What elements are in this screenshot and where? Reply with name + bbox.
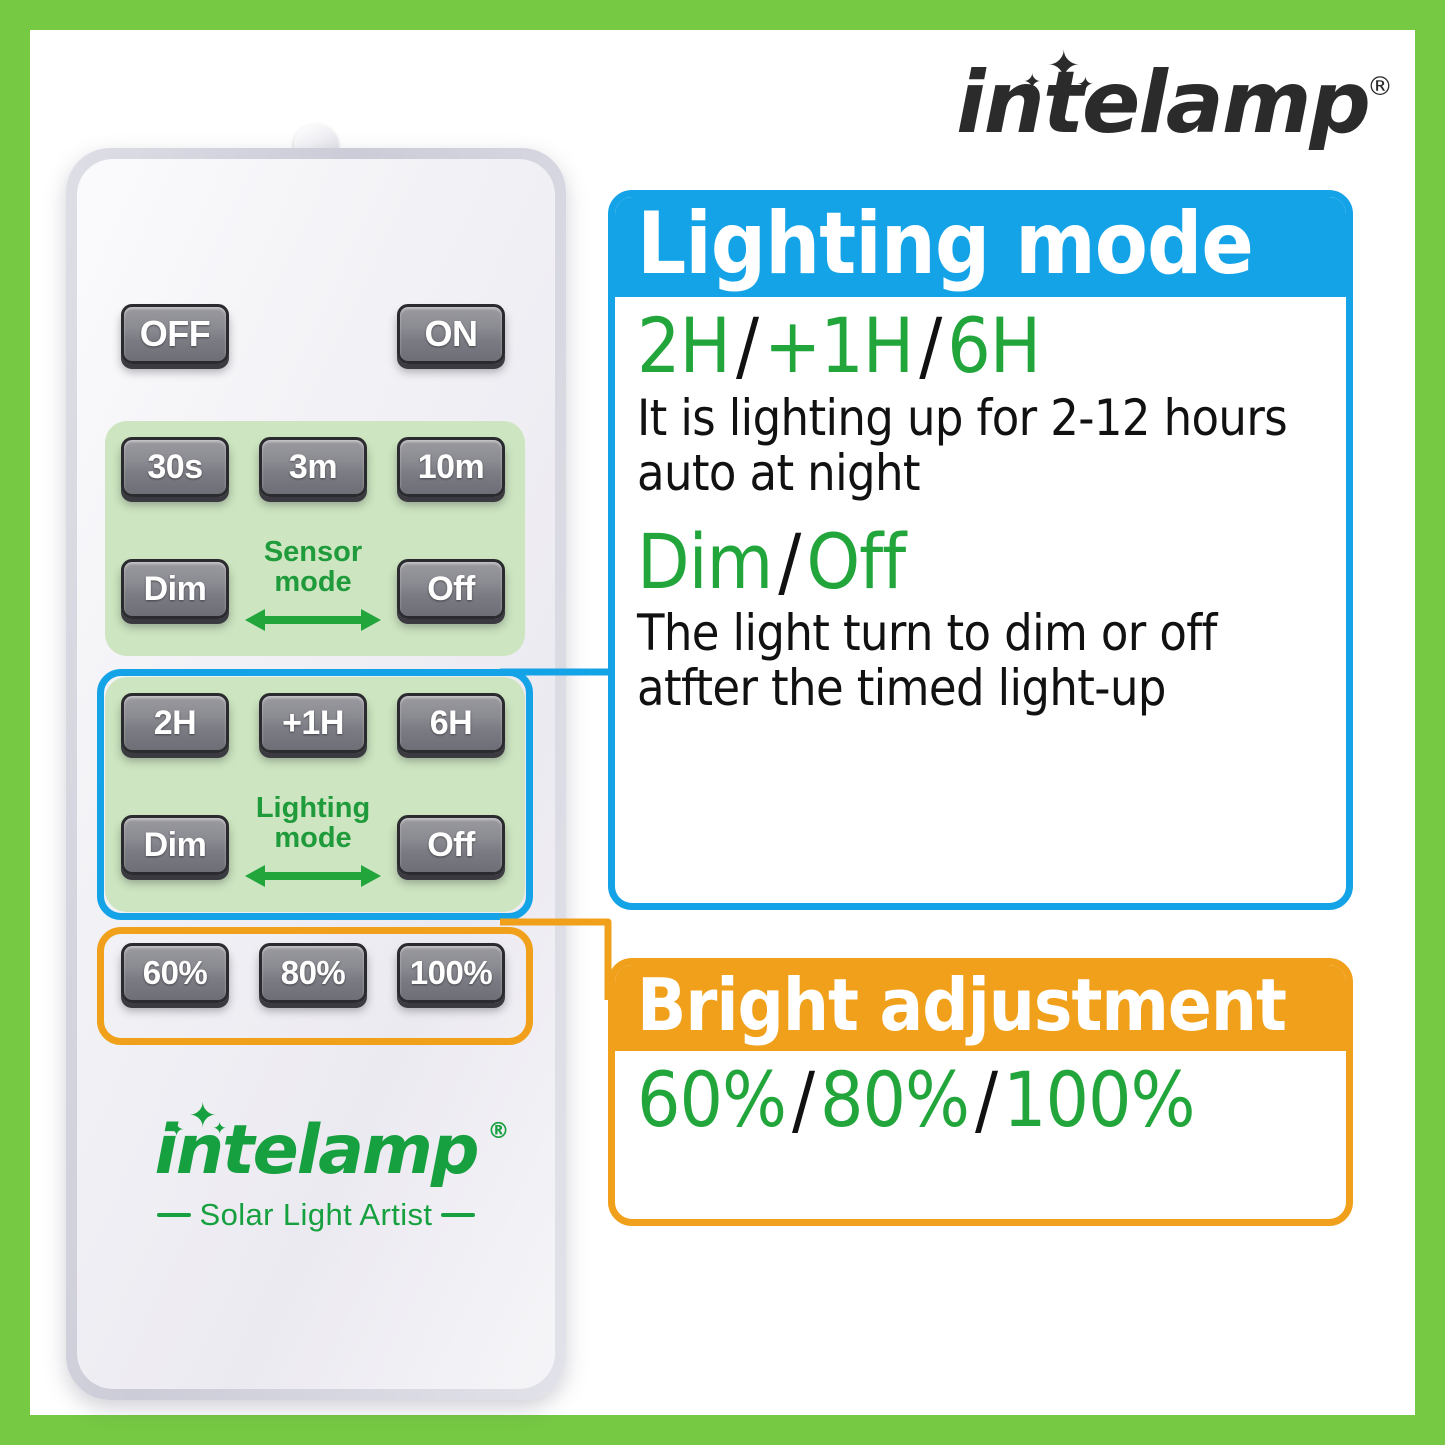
key-sensor-30s[interactable]: 30s	[121, 437, 229, 497]
tagline-rule-right	[441, 1213, 475, 1217]
remote-control: OFF ON 30s 3m 10m	[66, 90, 586, 1410]
key-label: Off	[427, 826, 475, 865]
key-sensor-10m[interactable]: 10m	[397, 437, 505, 497]
card-body-lighting-mode: 2H/+1H/6H It is lighting up for 2-12 hou…	[615, 297, 1346, 728]
sparkle-icon: ✦	[188, 1099, 215, 1133]
key-off-power[interactable]: OFF	[121, 304, 229, 364]
key-label: 30s	[147, 448, 202, 487]
key-sensor-dim[interactable]: Dim	[121, 559, 229, 619]
key-bright-100[interactable]: 100%	[397, 943, 505, 1003]
lighting-mode-options: 2H/+1H/6H	[637, 307, 1326, 385]
sensor-mode-range-arrow-icon	[243, 605, 383, 635]
key-label: +1H	[282, 704, 344, 743]
card-title-lighting-mode: Lighting mode	[615, 197, 1346, 297]
key-label: 2H	[154, 704, 196, 743]
card-bright-adjustment: Bright adjustment 60%/80%/100%	[608, 958, 1353, 1226]
key-label: ON	[425, 313, 478, 355]
key-on-power[interactable]: ON	[397, 304, 505, 364]
key-label: OFF	[140, 313, 210, 355]
lighting-mode-range-arrow-icon	[243, 861, 383, 891]
remote-brand-tagline: Solar Light Artist	[77, 1197, 555, 1233]
dim-off-options: Dim/Off	[637, 523, 1326, 601]
key-lighting-off[interactable]: Off	[397, 815, 505, 875]
key-label: Dim	[144, 570, 207, 609]
remote-body: OFF ON 30s 3m 10m	[66, 148, 566, 1400]
white-canvas: ✦ ✦ ✦ intelamp ® OFF ON	[30, 30, 1415, 1415]
brand-wordmark: intelamp	[956, 60, 1369, 146]
card-body-bright-adjustment: 60%/80%/100%	[615, 1051, 1346, 1151]
key-bright-60[interactable]: 60%	[121, 943, 229, 1003]
key-sensor-off[interactable]: Off	[397, 559, 505, 619]
registered-trademark-icon: ®	[488, 1121, 508, 1143]
key-label: 80%	[281, 954, 346, 992]
dim-off-description: The light turn to dim or off atfter the …	[637, 606, 1326, 716]
key-label: 60%	[143, 954, 208, 992]
sparkle-icon: ✦	[212, 1121, 224, 1138]
card-lighting-mode: Lighting mode 2H/+1H/6H It is lighting u…	[608, 190, 1353, 910]
sparkle-icon: ✦	[168, 1121, 182, 1140]
remote-faceplate: OFF ON 30s 3m 10m	[77, 159, 555, 1389]
bright-adjustment-options: 60%/80%/100%	[637, 1061, 1326, 1139]
lighting-mode-description: It is lighting up for 2-12 hours auto at…	[637, 391, 1326, 501]
key-label: 3m	[289, 448, 337, 487]
key-lighting-plus1h[interactable]: +1H	[259, 693, 367, 753]
card-title-bright-adjustment: Bright adjustment	[615, 965, 1346, 1051]
registered-trademark-icon: ®	[1367, 72, 1393, 102]
key-lighting-6h[interactable]: 6H	[397, 693, 505, 753]
lighting-mode-label: Lighting mode	[237, 793, 389, 853]
remote-brand-logo: ✦ ✦ ✦ intelamp ® Solar Light Artist	[77, 1117, 555, 1233]
key-lighting-2h[interactable]: 2H	[121, 693, 229, 753]
brand-logo-header: ✦ ✦ ✦ intelamp ®	[993, 50, 1393, 160]
key-label: 100%	[410, 954, 492, 992]
key-label: Dim	[144, 826, 207, 865]
key-sensor-3m[interactable]: 3m	[259, 437, 367, 497]
key-bright-80[interactable]: 80%	[259, 943, 367, 1003]
infographic-stage: ✦ ✦ ✦ intelamp ® OFF ON	[0, 0, 1445, 1445]
remote-brand-wordmark: ✦ ✦ ✦ intelamp ®	[154, 1117, 477, 1185]
key-label: Off	[427, 570, 475, 609]
tagline-rule-left	[157, 1213, 191, 1217]
key-lighting-dim[interactable]: Dim	[121, 815, 229, 875]
sensor-mode-label: Sensor mode	[243, 537, 383, 597]
key-label: 6H	[430, 704, 472, 743]
key-label: 10m	[418, 448, 485, 487]
